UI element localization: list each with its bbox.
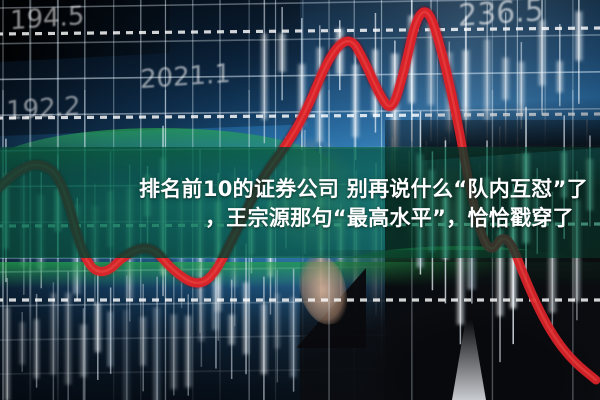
headline-line-1: 排名前10的证券公司 别再说什么“队内互怼”了 (139, 176, 600, 203)
headline-line-2: ，王宗源那句“最高水平”，恰恰戳穿了 (205, 205, 600, 232)
thumbnail-image: 194.5192.22021.1236.5 排名前10的证券公司 别再说什么“队… (0, 0, 600, 400)
headline-block: 排名前10的证券公司 别再说什么“队内互怼”了 ，王宗源那句“最高水平”，恰恰戳… (0, 157, 600, 250)
